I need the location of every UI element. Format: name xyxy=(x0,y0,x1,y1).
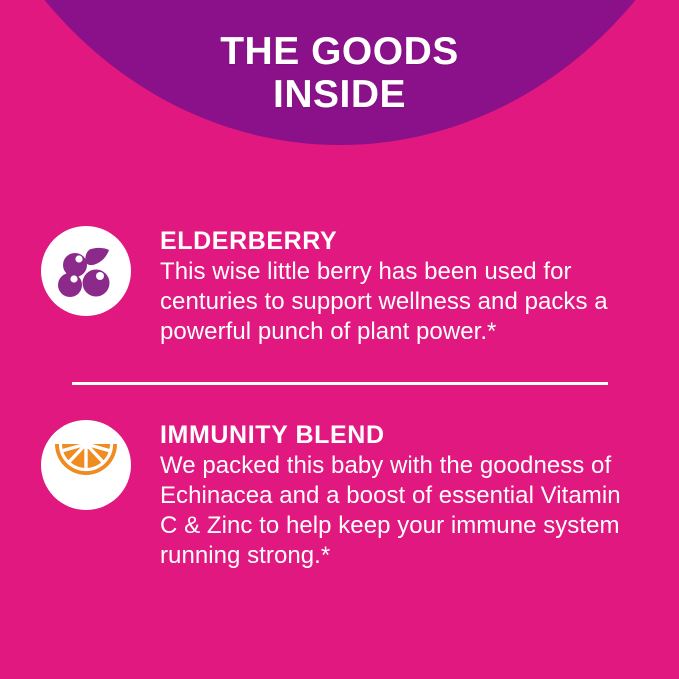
immunity-blend-heading: IMMUNITY BLEND xyxy=(160,420,631,450)
elderberry-text-block: ELDERBERRY This wise little berry has be… xyxy=(160,226,679,347)
orange-slice-icon-circle xyxy=(41,420,131,510)
immunity-blend-body: We packed this baby with the goodness of… xyxy=(160,451,631,571)
immunity-blend-text-block: IMMUNITY BLEND We packed this baby with … xyxy=(160,420,679,571)
page-title: THE GOODS INSIDE xyxy=(0,30,679,116)
section-divider xyxy=(72,382,608,385)
elderberry-heading: ELDERBERRY xyxy=(160,226,631,256)
orange-slice-icon xyxy=(53,432,119,498)
section-immunity-blend: IMMUNITY BLEND We packed this baby with … xyxy=(0,420,679,571)
elderberry-icon-container xyxy=(0,226,160,316)
section-elderberry: ELDERBERRY This wise little berry has be… xyxy=(0,226,679,347)
elderberry-icon-circle xyxy=(41,226,131,316)
promo-graphic: THE GOODS INSIDE xyxy=(0,0,679,679)
orange-slice-icon-container xyxy=(0,420,160,510)
elderberry-body: This wise little berry has been used for… xyxy=(160,257,631,347)
elderberry-icon xyxy=(54,239,118,303)
